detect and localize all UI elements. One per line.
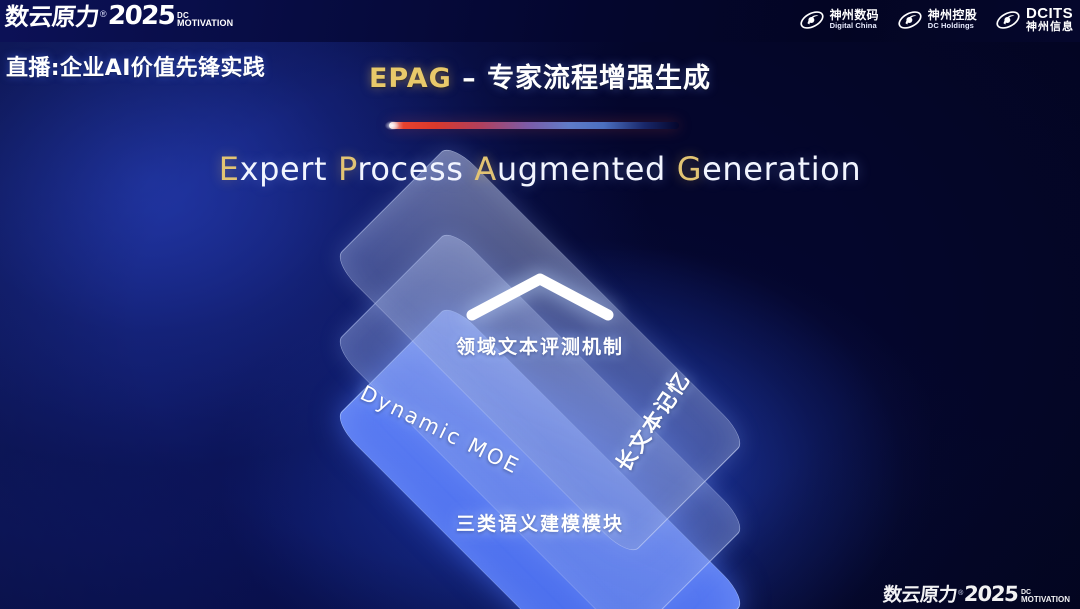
event-logo-year: 2025 [107,3,175,29]
event-logo-registered: ® [100,10,107,19]
chevron-up-icon [462,269,618,323]
footer-logo-cn: 数云原力 [882,586,958,605]
event-logo-dc-motivation: DC MOTIVATION [177,12,233,29]
subtitle-cap-e: E [219,150,240,188]
swirl-icon [995,7,1021,33]
subtitle-rest-expert: xpert [240,150,338,188]
subtitle-rest-augmented: ugmented [497,150,677,188]
footer-watermark-logo: 数云原力 ® 2025 DC MOTIVATION [883,584,1070,605]
page-subtitle: Expert Process Augmented Generation [0,150,1080,188]
title-divider [389,122,679,129]
event-logo: 数云原力 ® 2025 DC MOTIVATION [5,3,233,29]
logo-dc-holdings: 神州控股 DC Holdings [897,7,977,33]
logo-digital-china: 神州数码 Digital China [799,7,879,33]
event-logo-motivation: MOTIVATION [177,19,233,28]
logo-digital-china-text: 神州数码 Digital China [830,9,879,29]
footer-logo-registered: ® [958,590,963,597]
logo-dcits-brand: DCITS [1026,6,1074,22]
logo-dc-holdings-text: 神州控股 DC Holdings [928,9,977,29]
page-title-separator: – [452,63,487,94]
subtitle-rest-generation: eneration [702,150,861,188]
swirl-icon [799,7,825,33]
logo-digital-china-en: Digital China [830,22,879,30]
event-logo-cn: 数云原力 [4,5,100,29]
subtitle-cap-g: G [677,150,702,188]
swirl-icon [897,7,923,33]
logo-digital-china-cn: 神州数码 [830,9,879,21]
stack-label-top: 领域文本评测机制 [250,332,830,359]
footer-logo-year: 2025 [964,584,1019,605]
subtitle-rest-process: rocess [357,150,474,188]
subtitle-cap-p: P [338,150,357,188]
logo-dcits-text: DCITS 神州信息 [1026,6,1074,33]
corporate-logos: 神州数码 Digital China 神州控股 DC Holdings [799,6,1074,33]
footer-logo-dc-motivation: DC MOTIVATION [1021,590,1070,605]
logo-dcits-cn: 神州信息 [1026,22,1074,33]
page-title-acronym: EPAG [369,63,452,94]
footer-logo-motivation: MOTIVATION [1021,596,1070,604]
logo-dcits: DCITS 神州信息 [995,6,1074,33]
logo-dc-holdings-cn: 神州控股 [928,9,977,21]
layer-stack-diagram: Dynamic MOE 长文本记忆 领域文本评测机制 三类语义建模模块 [250,222,830,572]
logo-dc-holdings-en: DC Holdings [928,22,977,30]
live-stream-title: 直播:企业AI价值先锋实践 [6,50,265,82]
page-title-chinese: 专家流程增强生成 [487,63,711,94]
slide-stage: 数云原力 ® 2025 DC MOTIVATION 直播:企业AI价值先锋实践 … [0,0,1080,609]
stack-label-bottom: 三类语义建模模块 [250,509,830,536]
subtitle-cap-a: A [474,150,497,188]
